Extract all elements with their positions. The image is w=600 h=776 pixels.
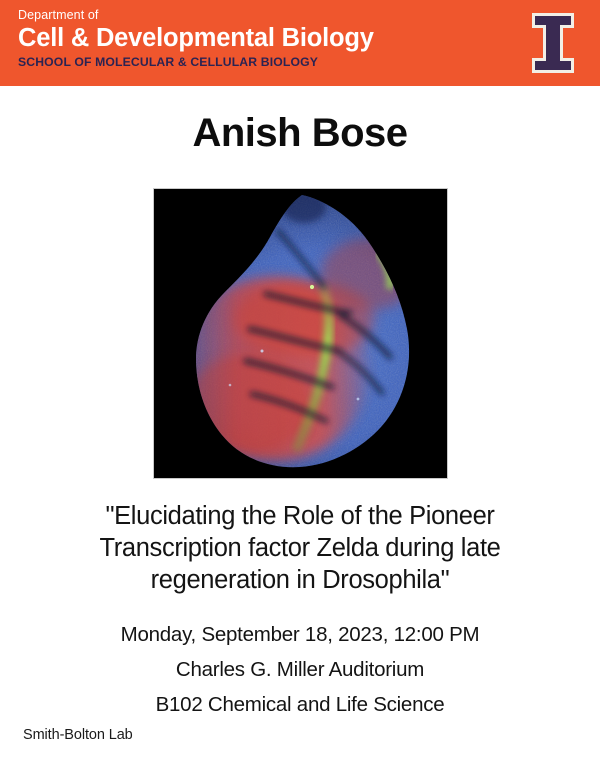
department-header-banner: Department of Cell & Developmental Biolo… bbox=[0, 0, 600, 86]
micrograph-svg bbox=[154, 189, 447, 478]
event-details-block: Monday, September 18, 2023, 12:00 PM Cha… bbox=[0, 617, 600, 722]
lab-affiliation-footer: Smith-Bolton Lab bbox=[23, 727, 133, 743]
talk-title-line-1: "Elucidating the Role of the Pioneer bbox=[14, 500, 586, 532]
illinois-block-i-logo-icon bbox=[529, 11, 577, 75]
header-text-block: Department of Cell & Developmental Biolo… bbox=[18, 8, 488, 69]
event-datetime: Monday, September 18, 2023, 12:00 PM bbox=[0, 617, 600, 652]
talk-title: "Elucidating the Role of the Pioneer Tra… bbox=[14, 500, 586, 596]
department-name-title: Cell & Developmental Biology bbox=[18, 24, 488, 53]
school-name-subtitle: SCHOOL OF MOLECULAR & CELLULAR BIOLOGY bbox=[18, 55, 488, 69]
talk-title-line-3: regeneration in Drosophila" bbox=[14, 564, 586, 596]
event-room: B102 Chemical and Life Science bbox=[0, 687, 600, 722]
event-venue: Charles G. Miller Auditorium bbox=[0, 652, 600, 687]
wing-disc-micrograph-image bbox=[153, 188, 448, 479]
talk-title-line-2: Transcription factor Zelda during late bbox=[14, 532, 586, 564]
department-eyebrow-label: Department of bbox=[18, 8, 488, 23]
speaker-name-heading: Anish Bose bbox=[0, 109, 600, 157]
